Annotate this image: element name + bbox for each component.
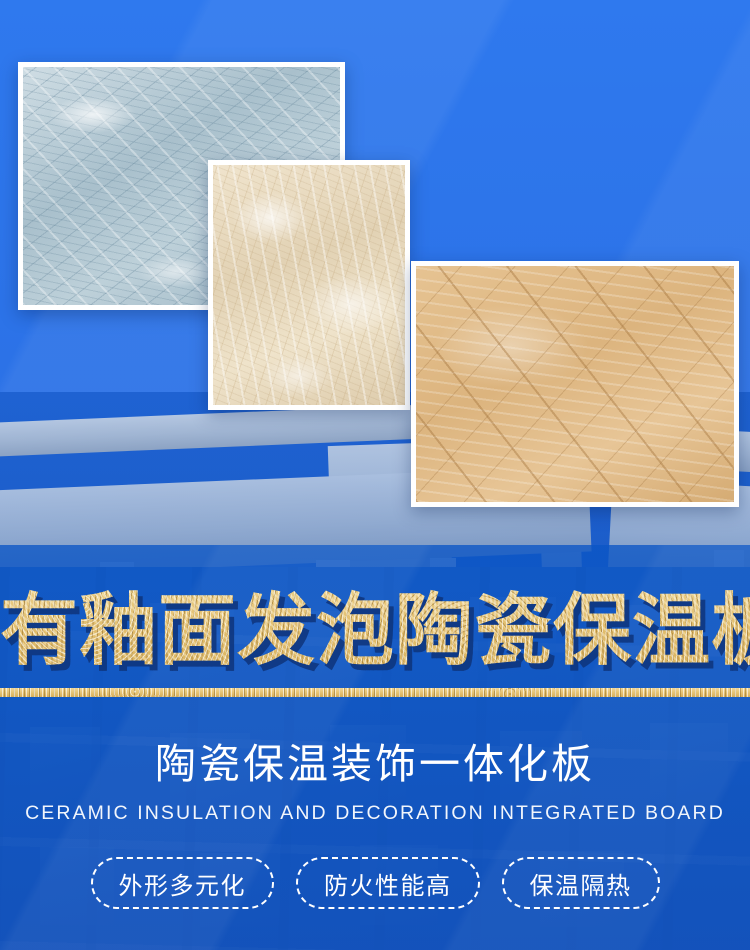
tile-sample-cream-travertine[interactable]	[208, 160, 410, 410]
feature-pill-fire-resistance[interactable]: 防火性能高	[296, 857, 480, 909]
feature-pill-shape-diversity[interactable]: 外形多元化	[91, 857, 275, 909]
subtitle-english: CERAMIC INSULATION AND DECORATION INTEGR…	[0, 800, 750, 826]
tile-sample-tan-marble[interactable]	[411, 261, 739, 507]
feature-pill-group: 外形多元化 防火性能高 保温隔热	[0, 857, 750, 909]
main-title: 有釉面发泡陶瓷保温板	[0, 582, 750, 678]
product-promo-banner: 有釉面发泡陶瓷保温板 陶瓷保温装饰一体化板 CERAMIC INSULATION…	[0, 0, 750, 950]
subtitle-chinese: 陶瓷保温装饰一体化板	[0, 738, 750, 790]
tile-texture	[213, 165, 405, 405]
feature-pill-thermal-insulation[interactable]: 保温隔热	[502, 857, 660, 909]
tile-texture	[416, 266, 734, 502]
gold-divider-bar	[0, 688, 750, 697]
